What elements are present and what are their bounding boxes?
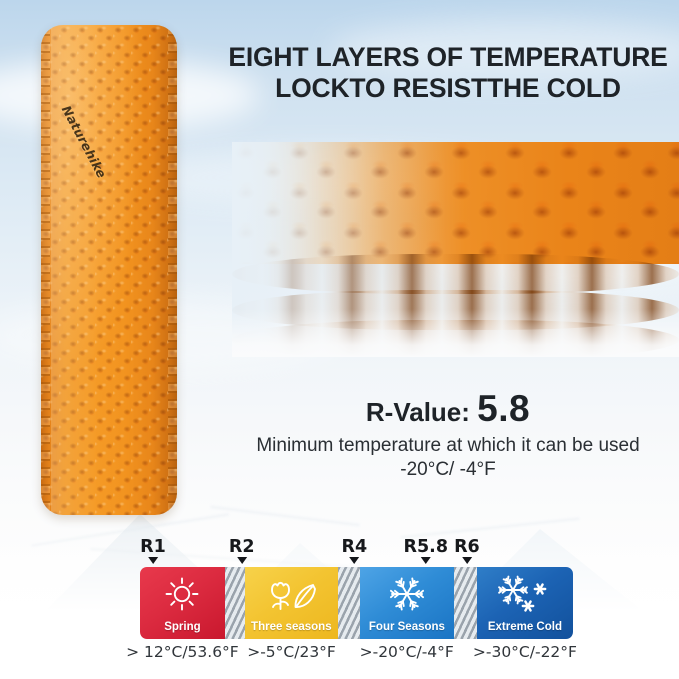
scale-segment-spring[interactable]: Spring (140, 567, 225, 639)
r-value-segment-bar: SpringThree seasonsFour SeasonsExtreme C… (140, 567, 573, 639)
infographic-canvas: Naturehike EIGHT LAYERS OF TEMPERATURE L… (0, 0, 679, 679)
pad-baffle-edge-left (41, 25, 50, 515)
marker-arrow-down-icon (148, 557, 158, 564)
marker-arrow-down-icon (462, 557, 472, 564)
temperature-label-row: > 12°C/53.6°F>-5°C/23°F>-20°C/-4°F>-30°C… (140, 642, 573, 668)
flower-leaf-icon (245, 567, 338, 621)
r-value-marker-label: R1 (140, 538, 166, 556)
marker-arrow-down-icon (349, 557, 359, 564)
temperature-range-label: >-20°C/-4°F (360, 642, 454, 662)
r-value-section: R-Value: 5.8 Minimum temperature at whic… (222, 392, 674, 482)
page-title: EIGHT LAYERS OF TEMPERATURE LOCKTO RESIS… (222, 42, 674, 104)
r-value-number: 5.8 (477, 388, 530, 429)
headline-line-2: LOCKTO RESISTTHE COLD (222, 73, 674, 104)
scale-divider-hatched (338, 567, 360, 639)
scale-segment-four-seasons[interactable]: Four Seasons (360, 567, 454, 639)
quilted-highlight-texture (41, 25, 177, 515)
scale-divider-hatched (454, 567, 477, 639)
r-value-marker-label: R6 (454, 538, 480, 556)
top-quilted-layer (232, 142, 679, 264)
baffle-layer (232, 254, 679, 294)
temperature-range-label: >-5°C/23°F (247, 642, 336, 662)
sleeping-pad-body (41, 25, 177, 515)
temperature-range-label: >-30°C/-22°F (473, 642, 577, 662)
snowflake-icon (360, 567, 454, 621)
r-value-marker-r1: R1 (140, 538, 166, 564)
r-value-headline: R-Value: 5.8 (222, 392, 674, 429)
marker-arrow-down-icon (421, 557, 431, 564)
scale-divider-hatched (225, 567, 245, 639)
r-value-scale: R1R2R4R5.8R6 SpringThree seasonsFour Sea… (140, 538, 573, 670)
scale-segment-extreme-cold[interactable]: Extreme Cold (477, 567, 573, 639)
r-value-marker-r5-8: R5.8 (404, 538, 448, 564)
sleeping-pad-product-image: Naturehike (41, 25, 177, 515)
r-value-marker-label: R5.8 (404, 538, 448, 556)
r-value-description-line-2: -20°C/ -4°F (222, 458, 674, 482)
headline-line-1: EIGHT LAYERS OF TEMPERATURE (228, 42, 667, 72)
pad-baffle-edge-right (168, 25, 177, 515)
r-value-label: R-Value: (366, 397, 470, 427)
layer-quilt-texture (232, 142, 679, 264)
r-value-marker-r2: R2 (229, 538, 255, 564)
r-value-marker-label: R4 (342, 538, 368, 556)
marker-arrow-down-icon (237, 557, 247, 564)
scale-segment-label: Spring (164, 621, 200, 634)
scale-segment-label: Extreme Cold (488, 621, 562, 634)
scale-segment-label: Three seasons (251, 621, 332, 634)
sun-icon (140, 567, 225, 621)
r-value-description-line-1: Minimum temperature at which it can be u… (222, 433, 674, 458)
scale-segment-label: Four Seasons (369, 621, 445, 634)
scale-segment-three-seasons[interactable]: Three seasons (245, 567, 338, 639)
snowflakes-icon (477, 567, 573, 621)
r-value-marker-label: R2 (229, 538, 255, 556)
baffle-layer (232, 320, 679, 357)
r-value-marker-row: R1R2R4R5.8R6 (140, 538, 573, 568)
r-value-marker-r6: R6 (454, 538, 480, 564)
temperature-range-label: > 12°C/53.6°F (126, 642, 239, 662)
r-value-marker-r4: R4 (342, 538, 368, 564)
layer-stack-illustration (232, 142, 679, 357)
